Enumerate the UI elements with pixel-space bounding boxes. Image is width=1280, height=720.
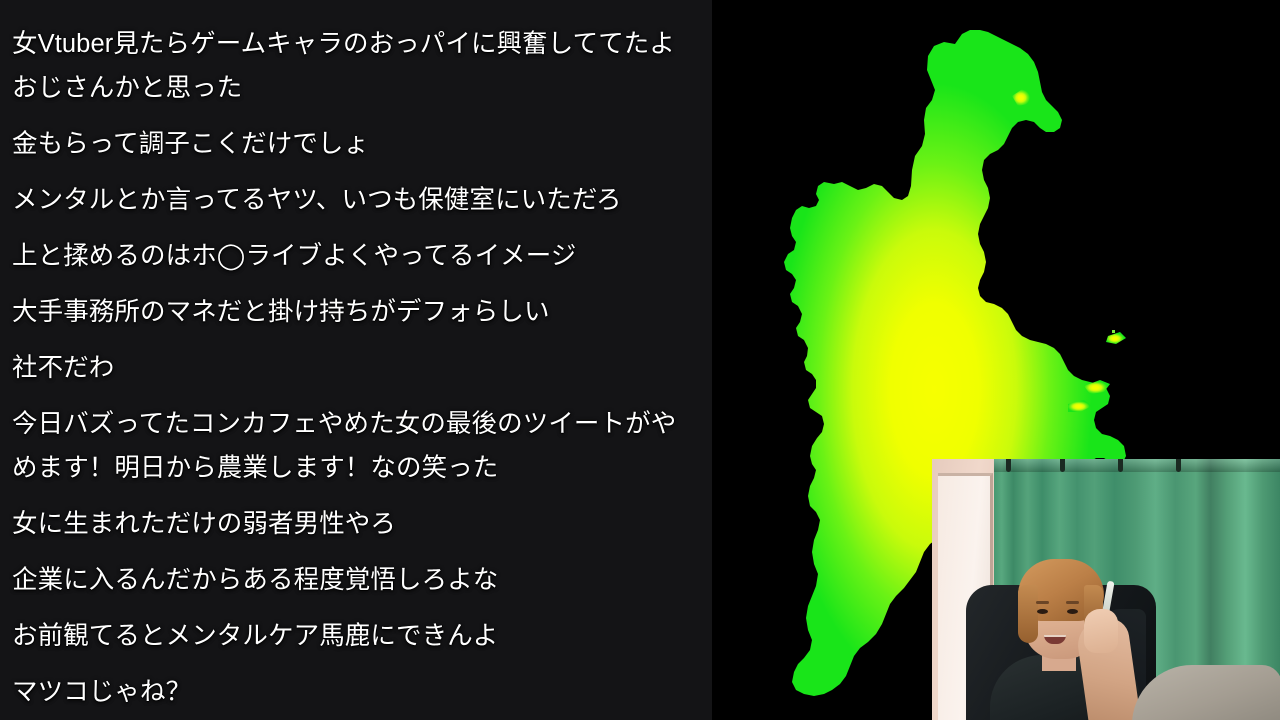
person-eyebrow-left <box>1036 601 1049 604</box>
comment-item: メンタルとか言ってるヤツ、いつも保健室にいただろ <box>12 178 698 222</box>
comment-item: 企業に入るんだからある程度覚悟しろよな <box>12 558 698 602</box>
comment-item: 社不だわ <box>12 346 698 390</box>
person-eyebrow-right <box>1066 601 1079 604</box>
curtain-hook <box>1006 459 1011 472</box>
curtain-hook <box>1118 459 1123 472</box>
comment-item: 女に生まれただけの弱者男性やろ <box>12 502 698 546</box>
webcam-overlay[interactable] <box>932 459 1280 720</box>
comment-item: お前観てるとメンタルケア馬鹿にできんよ <box>12 614 698 658</box>
person-eye-left <box>1037 609 1048 614</box>
comment-item: 今日バズってたコンカフェやめた女の最後のツイートがやめます！明日から農業します！… <box>12 402 698 490</box>
person-eye-right <box>1067 609 1078 614</box>
comment-item: 金もらって調子こくだけでしょ <box>12 122 698 166</box>
comment-item: 女Vtuber見たらゲームキャラのおっパイに興奮しててたよ おじさんかと思った <box>12 22 698 110</box>
comment-item: 大手事務所のマネだと掛け持ちがデフォらしい <box>12 290 698 334</box>
comment-panel: 女Vtuber見たらゲームキャラのおっパイに興奮しててたよ おじさんかと思った … <box>0 0 712 720</box>
person-hair-left <box>1018 585 1038 643</box>
stream-screenshot: 女Vtuber見たらゲームキャラのおっパイに興奮しててたよ おじさんかと思った … <box>0 0 1280 720</box>
person-hand <box>1084 609 1118 653</box>
curtain-hook <box>1060 459 1065 472</box>
comment-item: マツコじゃね？ <box>12 670 698 714</box>
curtain-hook <box>1176 459 1181 472</box>
comment-item: 上と揉めるのはホ◯ライブよくやってるイメージ <box>12 234 698 278</box>
